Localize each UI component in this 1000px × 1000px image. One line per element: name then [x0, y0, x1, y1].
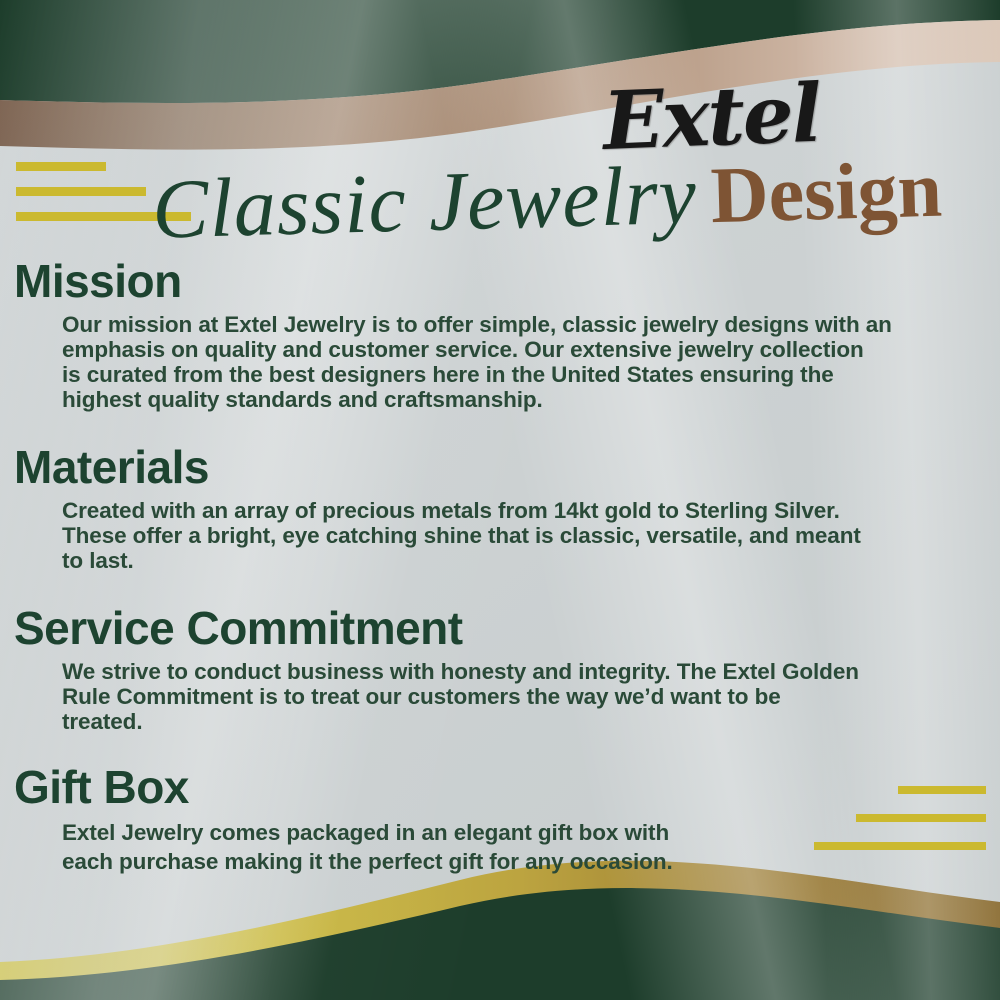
section-heading-mission: Mission	[14, 252, 1000, 310]
section-body-mission: Our mission at Extel Jewelry is to offer…	[62, 312, 966, 412]
section-materials: Materials Created with an array of preci…	[0, 438, 1000, 573]
decorative-rule	[814, 842, 986, 850]
page-title: Classic JewelryDesign	[0, 138, 1000, 264]
section-body-service-commitment: We strive to conduct business with hones…	[62, 659, 966, 734]
body-line: emphasis on quality and customer service…	[62, 337, 966, 362]
decorative-rule	[856, 814, 986, 822]
section-heading-materials: Materials	[14, 438, 1000, 496]
section-body-materials: Created with an array of precious metals…	[62, 498, 966, 573]
section-mission: Mission Our mission at Extel Jewelry is …	[0, 252, 1000, 412]
body-line: highest quality standards and craftsmans…	[62, 387, 966, 412]
body-line: Rule Commitment is to treat our customer…	[62, 684, 966, 709]
decorative-rules-bottom-right	[814, 786, 986, 870]
body-line: These offer a bright, eye catching shine…	[62, 523, 966, 548]
body-line: to last.	[62, 548, 966, 573]
body-line: We strive to conduct business with hones…	[62, 659, 966, 684]
section-service-commitment: Service Commitment We strive to conduct …	[0, 599, 1000, 734]
poster-canvas: 0%	[0, 0, 1000, 1000]
body-line: treated.	[62, 709, 966, 734]
section-heading-service-commitment: Service Commitment	[14, 599, 1000, 657]
title-script-part: Classic Jewelry	[151, 149, 698, 257]
decorative-rule	[898, 786, 986, 794]
body-line: Created with an array of precious metals…	[62, 498, 966, 523]
title-serif-part: Design	[710, 146, 944, 240]
body-line: is curated from the best designers here …	[62, 362, 966, 387]
body-line: Our mission at Extel Jewelry is to offer…	[62, 312, 966, 337]
